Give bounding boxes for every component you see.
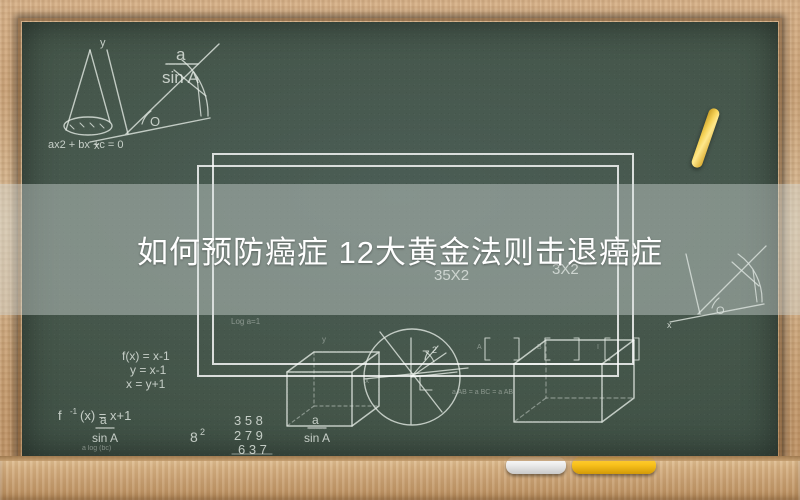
page-title: 如何预防癌症 12大黄金法则击退癌症 — [137, 227, 663, 272]
chalkboard-scene: a sin A ax2 + bx +c = 0 y x O O x — [0, 0, 800, 500]
chalk-tray-lip — [0, 456, 800, 461]
chalk-tray — [0, 456, 800, 500]
headline-container: 如何预防癌症 12大黄金法则击退癌症 — [0, 184, 800, 315]
